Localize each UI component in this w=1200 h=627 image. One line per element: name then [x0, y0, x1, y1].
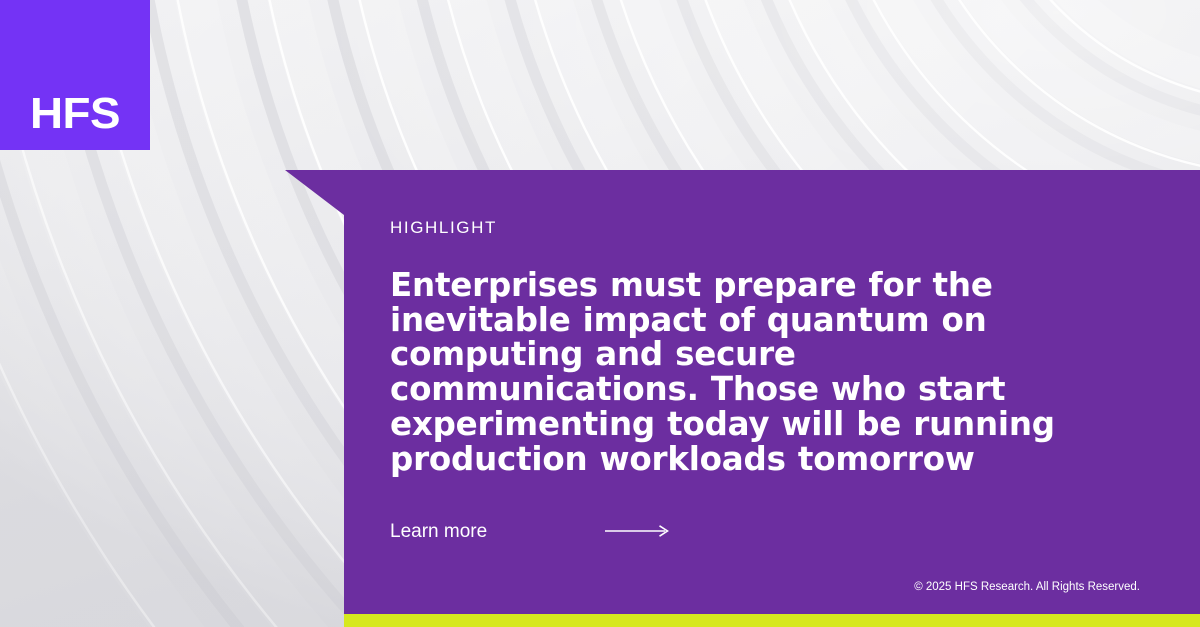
- arrow-right-icon: [605, 523, 669, 539]
- copyright-text: © 2025 HFS Research. All Rights Reserved…: [914, 582, 1140, 594]
- panel-content: HIGHLIGHT Enterprises must prepare for t…: [390, 215, 1200, 614]
- headline-text: Enterprises must prepare for the inevita…: [390, 236, 1080, 476]
- highlight-card: HFS HIGHLIGHT Enterprises must prepare f…: [0, 0, 1200, 627]
- eyebrow-label: HIGHLIGHT: [390, 215, 1200, 236]
- learn-more-link[interactable]: Learn more: [390, 518, 669, 544]
- highlight-panel: HIGHLIGHT Enterprises must prepare for t…: [285, 170, 1200, 614]
- accent-bar: [344, 614, 1200, 627]
- learn-more-label: Learn more: [390, 522, 487, 541]
- hfs-logo-wordmark: HFS: [0, 92, 153, 136]
- hfs-logo-block: HFS: [0, 0, 150, 150]
